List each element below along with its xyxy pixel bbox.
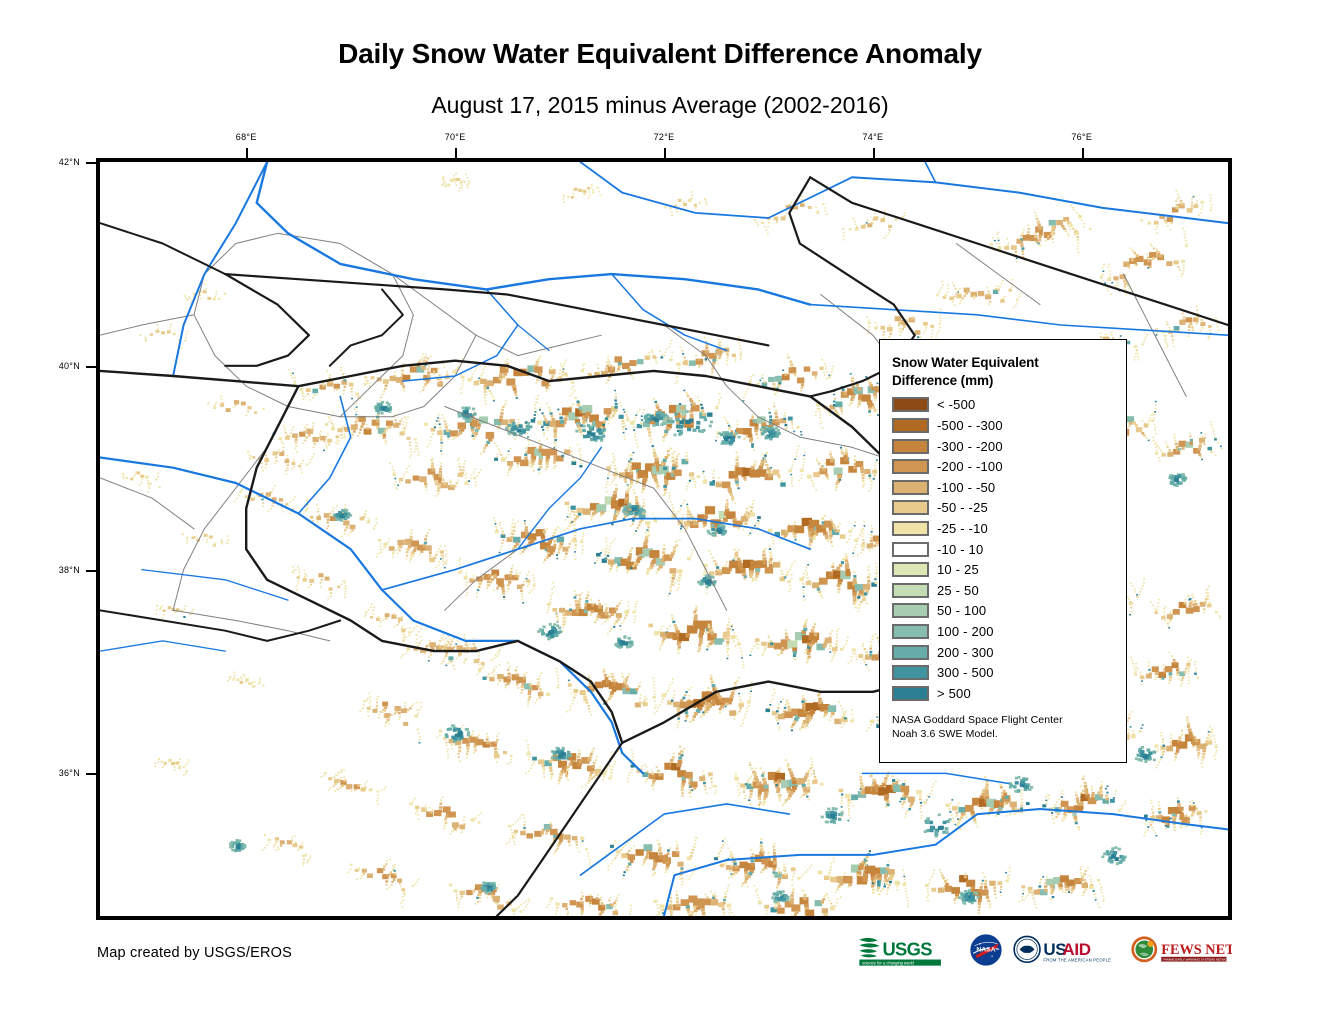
- terrain-cell: [697, 475, 701, 478]
- terrain-cell: [432, 433, 434, 435]
- terrain-cell: [594, 562, 596, 564]
- terrain-cell: [692, 403, 696, 406]
- terrain-cell: [687, 520, 691, 523]
- terrain-cell: [754, 426, 758, 430]
- terrain-cell: [806, 574, 808, 576]
- terrain-cell: [1140, 676, 1144, 680]
- terrain-cell: [1021, 250, 1024, 252]
- terrain-cell: [751, 443, 754, 446]
- terrain-cell: [576, 515, 579, 518]
- terrain-cell: [856, 384, 859, 387]
- terrain-cell: [871, 222, 873, 224]
- terrain-cell: [691, 191, 693, 193]
- terrain-cell: [600, 195, 602, 197]
- terrain-cell: [653, 687, 655, 689]
- terrain-cell: [302, 399, 304, 401]
- terrain-cell: [291, 375, 293, 377]
- terrain-cell: [1038, 241, 1040, 243]
- terrain-cell: [705, 506, 715, 514]
- terrain-cell: [863, 596, 866, 599]
- terrain-cell: [868, 322, 871, 324]
- terrain-cell: [431, 647, 434, 650]
- terrain-cell: [308, 434, 311, 437]
- terrain-cell: [869, 648, 872, 650]
- terrain-cell: [856, 226, 858, 228]
- terrain-cell: [548, 607, 550, 609]
- terrain-cell: [867, 569, 869, 571]
- terrain-cell: [824, 374, 826, 376]
- terrain-cell: [677, 648, 680, 650]
- terrain-cell: [821, 517, 824, 520]
- terrain-cell: [659, 649, 661, 651]
- terrain-cell: [718, 354, 721, 357]
- terrain-cell: [545, 459, 549, 462]
- terrain-cell: [615, 393, 617, 395]
- terrain-cell: [1051, 226, 1054, 229]
- terrain-cell: [575, 600, 578, 603]
- terrain-cell: [794, 535, 797, 538]
- terrain-cell: [699, 364, 702, 367]
- terrain-cell: [1184, 602, 1187, 605]
- terrain-cell: [942, 284, 944, 286]
- terrain-cell: [857, 406, 859, 408]
- terrain-cell: [437, 417, 439, 419]
- terrain-cell: [751, 416, 754, 419]
- terrain-cell: [1189, 435, 1191, 437]
- terrain-cell: [431, 368, 438, 373]
- terrain-cell: [502, 593, 505, 595]
- terrain-cell: [785, 633, 788, 636]
- terrain-cell: [495, 523, 497, 525]
- terrain-cell: [483, 665, 485, 667]
- terrain-cell: [830, 541, 833, 543]
- terrain-cell: [1153, 417, 1155, 419]
- terrain-cell: [574, 554, 576, 556]
- terrain-cell: [843, 239, 845, 241]
- terrain-cell: [625, 428, 627, 430]
- terrain-cell: [829, 633, 831, 635]
- terrain-cell: [423, 360, 426, 362]
- terrain-cell: [862, 533, 864, 535]
- terrain-cell: [552, 582, 554, 584]
- terrain-cell: [675, 383, 677, 385]
- terrain-cell: [635, 688, 638, 691]
- terrain-cell: [875, 399, 877, 401]
- terrain-cell: [738, 549, 740, 551]
- terrain-cell: [755, 575, 758, 578]
- terrain-cell: [1169, 672, 1173, 675]
- terrain-cell: [1141, 588, 1143, 590]
- terrain-cell: [405, 653, 407, 655]
- terrain-cell: [753, 449, 755, 451]
- terrain-cell: [551, 588, 553, 590]
- terrain-cell: [888, 336, 890, 338]
- terrain-cell: [1166, 444, 1168, 446]
- terrain-cell: [1189, 598, 1191, 600]
- terrain-cell: [607, 555, 610, 557]
- terrain-cell: [485, 400, 487, 402]
- terrain-cell: [779, 561, 781, 563]
- terrain-cell: [698, 650, 700, 652]
- terrain-cell: [843, 235, 845, 237]
- terrain-cell: [1141, 420, 1143, 422]
- terrain-cell: [769, 564, 773, 567]
- terrain-cell: [1205, 592, 1207, 594]
- terrain-cell: [440, 476, 442, 478]
- terrain-cell: [663, 440, 665, 442]
- terrain-cell: [543, 434, 545, 436]
- terrain-cell: [456, 367, 458, 369]
- terrain-cell: [550, 366, 552, 368]
- terrain-cell: [1186, 663, 1190, 667]
- terrain-cell: [823, 515, 825, 517]
- terrain-cell: [796, 452, 798, 454]
- terrain-cell: [1176, 204, 1179, 206]
- terrain-cell: [618, 362, 622, 365]
- terrain-cell: [676, 580, 678, 582]
- terrain-cell: [573, 528, 575, 530]
- terrain-cell: [1160, 450, 1162, 452]
- terrain-cell: [1070, 205, 1072, 207]
- terrain-cell: [442, 177, 444, 179]
- terrain-cell: [803, 628, 807, 631]
- terrain-cell: [624, 481, 627, 483]
- terrain-cell: [629, 472, 633, 475]
- terrain-cell: [798, 446, 800, 448]
- terrain-cell: [1188, 660, 1190, 662]
- terrain-cell: [1102, 267, 1104, 269]
- terrain-cell: [488, 674, 490, 676]
- terrain-cell: [625, 494, 629, 497]
- terrain-cell: [409, 457, 411, 459]
- terrain-cell: [678, 580, 680, 582]
- terrain-cell: [1038, 226, 1042, 229]
- terrain-cell: [731, 430, 734, 433]
- terrain-cell: [883, 217, 885, 219]
- terrain-cell: [603, 668, 605, 670]
- terrain-cell: [447, 662, 449, 664]
- terrain-cell: [648, 431, 651, 434]
- terrain-cell: [817, 408, 819, 410]
- terrain-cell: [626, 688, 630, 692]
- terrain-cell: [864, 224, 866, 226]
- terrain-cell: [342, 373, 344, 375]
- terrain-cell: [1182, 228, 1184, 230]
- terrain-cell: [584, 363, 586, 365]
- terrain-cell: [769, 558, 772, 561]
- terrain-cell: [990, 243, 993, 246]
- terrain-cell: [1074, 230, 1076, 232]
- terrain-cell: [530, 683, 532, 685]
- terrain-cell: [609, 546, 611, 548]
- terrain-cell: [562, 627, 564, 629]
- terrain-cell: [866, 316, 868, 318]
- terrain-cell: [1184, 237, 1186, 239]
- terrain-cell: [648, 624, 653, 628]
- terrain-cell: [396, 487, 398, 489]
- terrain-cell: [664, 433, 667, 436]
- terrain-cell: [630, 454, 632, 456]
- terrain-cell: [571, 451, 573, 453]
- terrain-cell: [492, 396, 494, 398]
- terrain-cell: [573, 697, 575, 699]
- terrain-cell: [1156, 334, 1158, 336]
- terrain-cell: [938, 292, 940, 294]
- terrain-cell: [525, 451, 527, 453]
- terrain-cell: [586, 702, 589, 704]
- terrain-cell: [422, 389, 424, 391]
- terrain-cell: [516, 397, 518, 399]
- terrain-cell: [1195, 606, 1199, 609]
- terrain-cell: [553, 461, 556, 464]
- terrain-cell: [794, 521, 796, 523]
- terrain-cell: [354, 409, 356, 411]
- terrain-cell: [705, 347, 708, 350]
- terrain-cell: [582, 421, 585, 424]
- terrain-cell: [569, 525, 571, 527]
- terrain-cell: [686, 504, 688, 506]
- terrain-cell: [923, 322, 928, 326]
- terrain-cell: [1127, 416, 1135, 422]
- terrain-cell: [746, 516, 750, 519]
- terrain-cell: [1132, 663, 1134, 665]
- terrain-cell: [510, 448, 512, 450]
- terrain-cell: [428, 660, 430, 662]
- terrain-cell: [1105, 336, 1108, 338]
- terrain-cell: [868, 320, 870, 322]
- terrain-cell: [503, 373, 507, 376]
- terrain-cell: [437, 490, 440, 492]
- terrain-cell: [574, 524, 576, 526]
- terrain-cell: [790, 361, 793, 363]
- terrain-cell: [384, 388, 387, 390]
- terrain-cell: [527, 702, 529, 704]
- terrain-cell: [1134, 673, 1137, 676]
- terrain-cell: [740, 647, 742, 649]
- terrain-cell: [1175, 443, 1178, 445]
- terrain-cell: [731, 496, 734, 498]
- terrain-cell: [1168, 682, 1170, 684]
- terrain-cell: [700, 404, 702, 406]
- terrain-cell: [677, 642, 681, 645]
- terrain-cell: [730, 493, 733, 496]
- terrain-cell: [439, 646, 442, 648]
- terrain-cell: [464, 660, 466, 662]
- terrain-cell: [1167, 324, 1169, 326]
- terrain-cell: [537, 358, 540, 360]
- terrain-cell: [440, 430, 443, 432]
- terrain-cell: [574, 535, 576, 537]
- terrain-cell: [539, 409, 541, 411]
- terrain-cell: [664, 488, 667, 491]
- terrain-cell: [1176, 446, 1179, 449]
- terrain-cell: [812, 371, 818, 375]
- terrain-cell: [404, 416, 406, 418]
- terrain-cell: [1050, 233, 1052, 235]
- terrain-cell: [831, 519, 833, 521]
- terrain-cell: [325, 436, 327, 438]
- terrain-cell: [663, 548, 666, 550]
- terrain-cell: [728, 425, 730, 427]
- terrain-cell: [1151, 259, 1153, 261]
- terrain-cell: [1002, 280, 1004, 282]
- terrain-cell: [1141, 432, 1144, 435]
- terrain-cell: [465, 477, 467, 479]
- terrain-cell: [1202, 206, 1204, 208]
- terrain-cell: [761, 642, 766, 646]
- terrain-cell: [330, 420, 332, 422]
- terrain-cell: [613, 462, 615, 464]
- terrain-cell: [433, 373, 435, 375]
- terrain-cell: [794, 375, 796, 377]
- terrain-cell: [524, 523, 526, 525]
- terrain-cell: [816, 212, 819, 214]
- terrain-cell: [527, 433, 529, 435]
- terrain-cell: [394, 414, 396, 416]
- terrain-cell: [639, 702, 642, 704]
- terrain-cell: [801, 474, 803, 476]
- terrain-cell: [796, 456, 798, 458]
- terrain-cell: [501, 409, 504, 411]
- terrain-cell: [715, 406, 719, 409]
- terrain-cell: [443, 657, 445, 659]
- terrain-cell: [446, 374, 448, 376]
- terrain-cell: [578, 189, 582, 192]
- terrain-cell: [749, 506, 751, 508]
- terrain-cell: [506, 591, 508, 593]
- terrain-cell: [937, 332, 939, 334]
- terrain-cell: [1150, 243, 1152, 245]
- terrain-cell: [337, 439, 339, 441]
- terrain-cell: [644, 699, 646, 701]
- terrain-cell: [1196, 323, 1198, 325]
- terrain-cell: [360, 425, 363, 428]
- terrain-cell: [815, 489, 817, 491]
- terrain-cell: [761, 222, 764, 224]
- terrain-cell: [858, 654, 863, 658]
- terrain-cell: [792, 367, 796, 370]
- terrain-cell: [1045, 240, 1047, 242]
- terrain-cell: [769, 419, 772, 422]
- terrain-cell: [614, 477, 617, 479]
- terrain-cell: [607, 478, 609, 480]
- terrain-cell: [610, 365, 613, 367]
- terrain-cell: [853, 218, 855, 220]
- terrain-cell: [738, 342, 740, 344]
- terrain-cell: [1201, 459, 1203, 461]
- terrain-cell: [874, 411, 877, 413]
- terrain-cell: [1191, 198, 1193, 200]
- terrain-cell: [550, 595, 552, 597]
- terrain-cell: [1069, 223, 1071, 225]
- terrain-cell: [539, 373, 543, 376]
- terrain-cell: [719, 481, 722, 483]
- terrain-cell: [1134, 265, 1136, 267]
- terrain-cell: [609, 695, 613, 698]
- terrain-cell: [852, 553, 854, 555]
- terrain-cell: [1160, 679, 1162, 681]
- terrain-cell: [763, 557, 767, 560]
- terrain-cell: [508, 673, 511, 676]
- terrain-cell: [646, 573, 648, 575]
- terrain-cell: [846, 640, 848, 642]
- terrain-cell: [326, 445, 328, 447]
- terrain-cell: [821, 421, 823, 423]
- terrain-cell: [768, 560, 772, 563]
- terrain-cell: [1155, 401, 1157, 403]
- terrain-cell: [757, 516, 761, 519]
- terrain-cell: [1196, 676, 1198, 678]
- terrain-cell: [507, 472, 509, 474]
- terrain-cell: [518, 419, 520, 421]
- terrain-cell: [615, 538, 617, 540]
- terrain-cell: [899, 324, 901, 326]
- terrain-cell: [553, 430, 557, 433]
- terrain-cell: [650, 441, 652, 443]
- terrain-cell: [491, 578, 494, 581]
- terrain-cell: [773, 406, 775, 408]
- terrain-cell: [923, 332, 925, 334]
- terrain-cell: [502, 420, 509, 426]
- terrain-cell: [706, 203, 708, 205]
- terrain-cell: [427, 375, 431, 378]
- terrain-cell: [632, 520, 635, 522]
- terrain-cell: [655, 458, 659, 461]
- terrain-cell: [812, 626, 815, 629]
- terrain-cell: [642, 499, 644, 501]
- terrain-cell: [551, 375, 554, 378]
- terrain-cell: [443, 482, 446, 485]
- terrain-cell: [612, 461, 614, 463]
- terrain-cell: [1145, 337, 1147, 339]
- terrain-cell: [608, 676, 610, 678]
- terrain-cell: [578, 513, 581, 516]
- terrain-cell: [695, 606, 697, 608]
- terrain-cell: [654, 479, 658, 482]
- terrain-cell: [560, 363, 562, 365]
- terrain-cell: [637, 359, 644, 364]
- terrain-cell: [579, 431, 582, 434]
- terrain-cell: [552, 418, 556, 421]
- terrain-cell: [1198, 215, 1200, 217]
- terrain-cell: [616, 510, 620, 513]
- terrain-cell: [833, 394, 835, 396]
- terrain-cell: [651, 564, 655, 567]
- terrain-cell: [698, 647, 701, 649]
- terrain-cell: [641, 415, 643, 417]
- terrain-cell: [1196, 200, 1198, 202]
- terrain-cell: [1068, 225, 1070, 227]
- terrain-cell: [536, 699, 538, 701]
- terrain-cell: [364, 376, 367, 379]
- terrain-cell: [504, 403, 506, 405]
- terrain-cell: [557, 681, 559, 683]
- terrain-cell: [399, 420, 401, 422]
- terrain-cell: [1187, 657, 1189, 659]
- terrain-cell: [626, 467, 629, 470]
- terrain-cell: [573, 193, 575, 195]
- terrain-cell: [441, 479, 444, 481]
- terrain-cell: [610, 568, 612, 570]
- terrain-cell: [472, 578, 474, 580]
- terrain-cell: [351, 434, 353, 436]
- terrain-cell: [773, 562, 780, 568]
- terrain-cell: [625, 615, 627, 617]
- terrain-cell: [1180, 685, 1182, 687]
- terrain-cell: [711, 374, 713, 376]
- terrain-cell: [735, 358, 737, 360]
- terrain-cell: [789, 585, 791, 587]
